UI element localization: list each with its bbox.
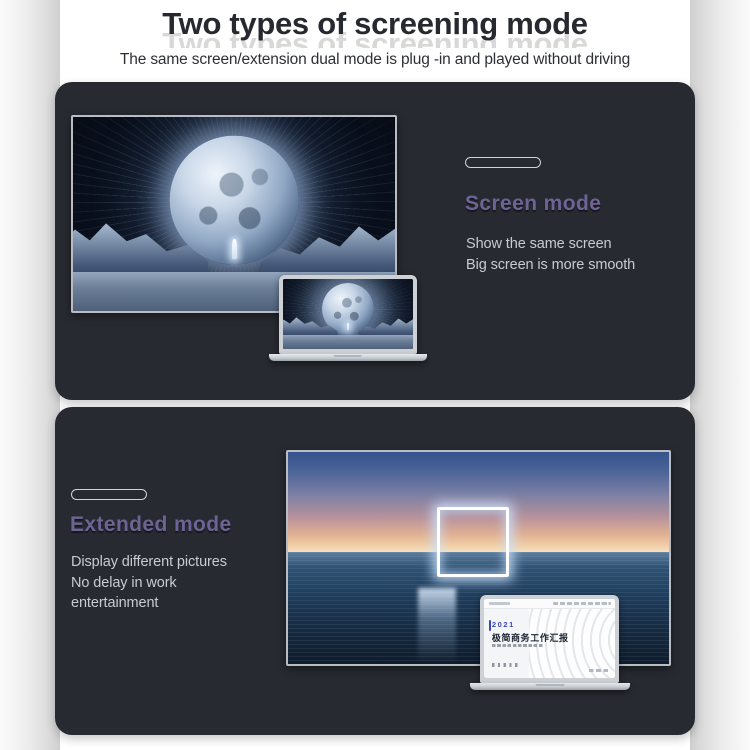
laptop-lid: 2021 极简商务工作汇报 <box>480 595 619 683</box>
mode-description-screen: Show the same screen Big screen is more … <box>466 234 686 275</box>
slide-bottom-right-items <box>589 669 610 673</box>
artwork-moon-star-trails-mirror <box>283 279 413 349</box>
laptop-base <box>269 354 427 361</box>
mode-title-extended: Extended mode <box>70 513 232 537</box>
lake-surface <box>283 335 413 349</box>
moon-reflection-glint <box>418 588 456 664</box>
slide-footer-dots <box>492 663 521 667</box>
slide-toolbar-left-items <box>489 602 510 604</box>
laptop-trackpad-notch <box>536 684 565 686</box>
laptop-trackpad-notch <box>334 355 362 357</box>
artwork-business-report-slide: 2021 极简商务工作汇报 <box>484 599 615 678</box>
panel-extended-mode: Extended mode Display different pictures… <box>55 407 695 735</box>
page-title: Two types of screening mode Two types of… <box>162 6 587 42</box>
slide-toolbar-right-items <box>553 602 611 604</box>
standing-figure <box>232 239 237 258</box>
page-subtitle: The same screen/extension dual mode is p… <box>0 51 750 69</box>
pill-indicator-screen-mode <box>465 157 541 168</box>
pill-indicator-extended-mode <box>71 489 147 500</box>
panel-screen-mode: Screen mode Show the same screen Big scr… <box>55 82 695 400</box>
mode-description-extended: Display different pictures No delay in w… <box>71 552 301 614</box>
glowing-rectangle-frame <box>437 507 509 577</box>
standing-figure <box>347 323 349 330</box>
slide-heading-text: 极简商务工作汇报 <box>492 631 569 644</box>
background-gradient-left <box>0 0 60 750</box>
page-title-text: Two types of screening mode <box>162 6 587 41</box>
slide-toolbar <box>484 599 615 609</box>
mode-title-screen: Screen mode <box>465 192 601 216</box>
laptop-lid <box>279 275 417 354</box>
laptop-display-moon <box>283 279 413 349</box>
laptop-display-slide: 2021 极简商务工作汇报 <box>484 599 615 678</box>
laptop-screen-mode <box>279 275 417 361</box>
slide-year-label: 2021 <box>492 620 515 629</box>
laptop-extended-mode: 2021 极简商务工作汇报 <box>480 595 619 690</box>
header: Two types of screening mode Two types of… <box>0 0 750 69</box>
background-gradient-right <box>690 0 750 750</box>
slide-sidebar-marker <box>489 620 491 631</box>
laptop-base <box>470 683 630 690</box>
slide-subtext-lines <box>492 644 544 647</box>
